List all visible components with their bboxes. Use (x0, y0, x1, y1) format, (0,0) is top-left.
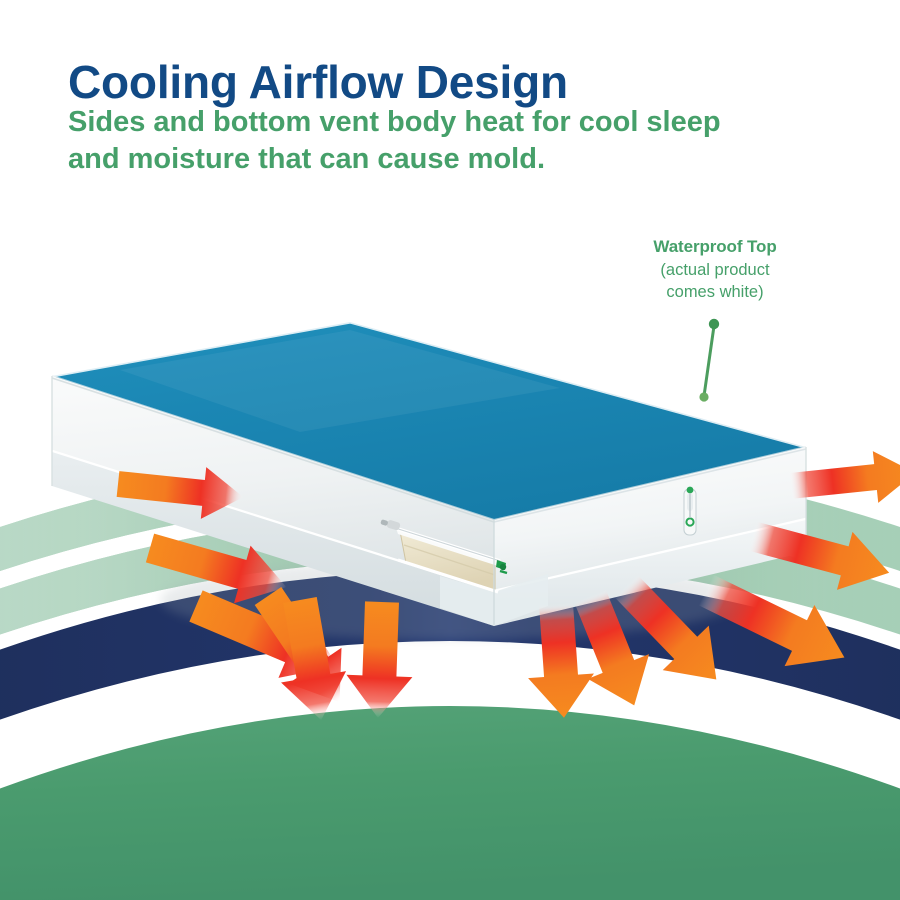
waterproof-top-callout: Waterproof Top (actual product comes whi… (600, 236, 830, 303)
callout-subtext-line-1: (actual product (600, 260, 830, 281)
callout-subtext-line-2: comes white) (600, 282, 830, 303)
right-zipper-pull (684, 487, 696, 535)
callout-title: Waterproof Top (600, 236, 830, 258)
subtitle-line-1: Sides and bottom vent body heat for cool… (68, 104, 828, 141)
subtitle-line-2: and moisture that can cause mold. (68, 141, 828, 178)
infographic-canvas: Cooling Airflow Design Sides and bottom … (0, 0, 900, 900)
callout-subtext: (actual product comes white) (600, 260, 830, 303)
page-subtitle: Sides and bottom vent body heat for cool… (68, 104, 828, 178)
page-title: Cooling Airflow Design (68, 59, 868, 105)
